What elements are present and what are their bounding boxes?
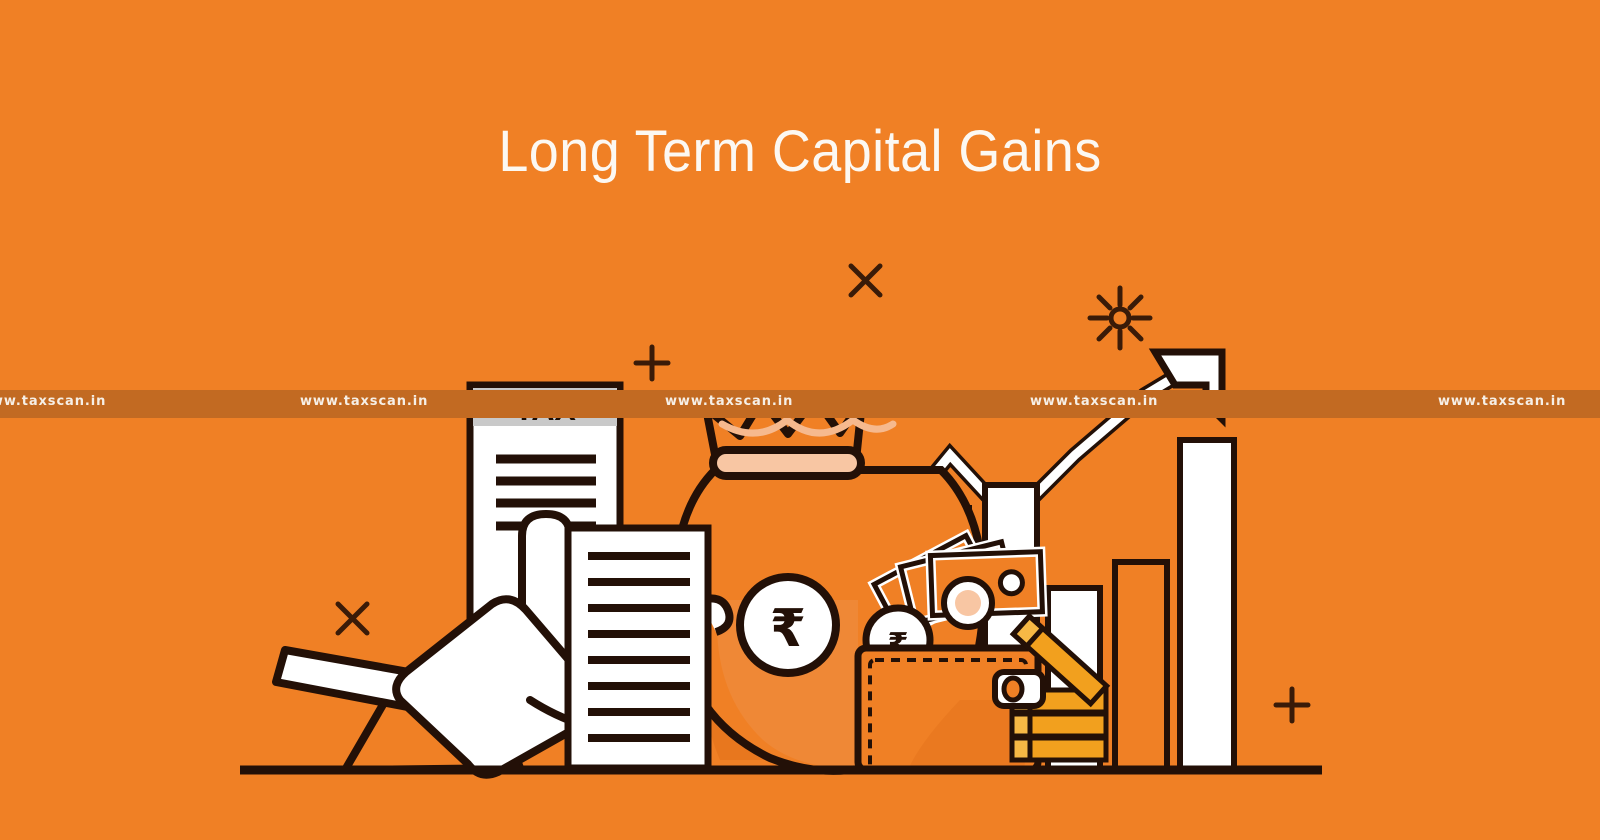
bar-5 xyxy=(1180,440,1234,770)
bar-4 xyxy=(1115,562,1167,770)
tax-document-label: TAX xyxy=(514,391,576,427)
second-document xyxy=(568,528,708,768)
illustration-artwork: ₹ TAX xyxy=(0,0,1600,840)
svg-text:₹: ₹ xyxy=(770,599,806,659)
banner-canvas: ₹ TAX xyxy=(0,0,1600,840)
